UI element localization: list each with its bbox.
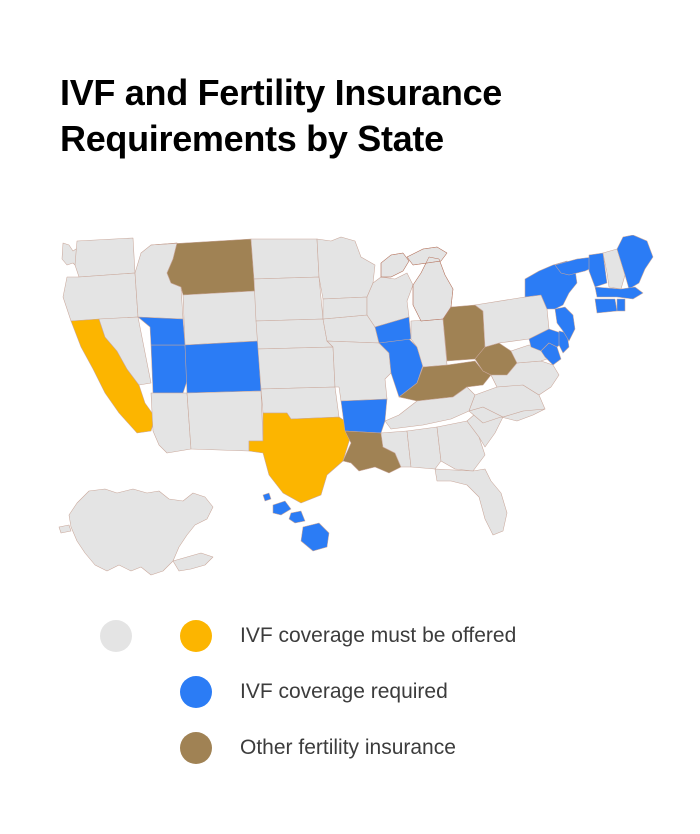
us-choropleth-map: [55, 235, 655, 595]
state-FL: [435, 469, 507, 535]
state-MN: [317, 237, 375, 299]
state-AK-group: [59, 489, 213, 575]
state-HI: [289, 511, 305, 523]
state-HI-group: [263, 493, 329, 551]
state-RI: [617, 299, 625, 311]
us-map-svg: [55, 235, 655, 595]
legend-swatch-none: [100, 620, 132, 652]
state-CO: [185, 341, 261, 393]
legend-swatch-offered: [180, 620, 212, 652]
state-CT: [595, 299, 617, 313]
state-HI: [301, 523, 329, 551]
state-AK: [59, 525, 71, 533]
state-OR: [63, 273, 138, 321]
state-UT: [151, 345, 187, 393]
legend-label-required: IVF coverage required: [240, 680, 448, 704]
state-MI: [407, 247, 447, 265]
state-KS: [258, 347, 335, 389]
state-NE: [256, 319, 333, 349]
state-MO: [327, 341, 391, 401]
state-AL: [407, 427, 441, 469]
legend-swatch-other: [180, 732, 212, 764]
state-TX: [249, 413, 351, 503]
state-WY: [183, 291, 258, 345]
legend-row-offered[interactable]: IVF coverage must be offered: [100, 608, 620, 664]
legend-label-other: Other fertility insurance: [240, 736, 456, 760]
state-OH: [443, 305, 485, 361]
state-ND: [251, 239, 319, 279]
state-MI: [381, 253, 409, 277]
state-HI: [263, 493, 271, 501]
state-HI: [273, 501, 291, 515]
state-UT: [138, 317, 185, 345]
state-AK: [173, 553, 213, 571]
state-WA: [75, 238, 135, 277]
state-MA: [595, 287, 643, 299]
page-title: IVF and Fertility Insurance Requirements…: [60, 70, 660, 162]
legend-swatch-required: [180, 676, 212, 708]
state-AZ: [151, 393, 191, 453]
state-AR: [341, 399, 387, 433]
state-IA: [323, 297, 367, 319]
legend-label-offered: IVF coverage must be offered: [240, 624, 516, 648]
state-MI: [413, 257, 453, 321]
legend-row-other[interactable]: Other fertility insurance: [100, 720, 620, 776]
state-SD: [254, 277, 323, 321]
map-legend: IVF coverage must be offered IVF coverag…: [100, 608, 620, 776]
legend-row-required[interactable]: IVF coverage required: [100, 664, 620, 720]
